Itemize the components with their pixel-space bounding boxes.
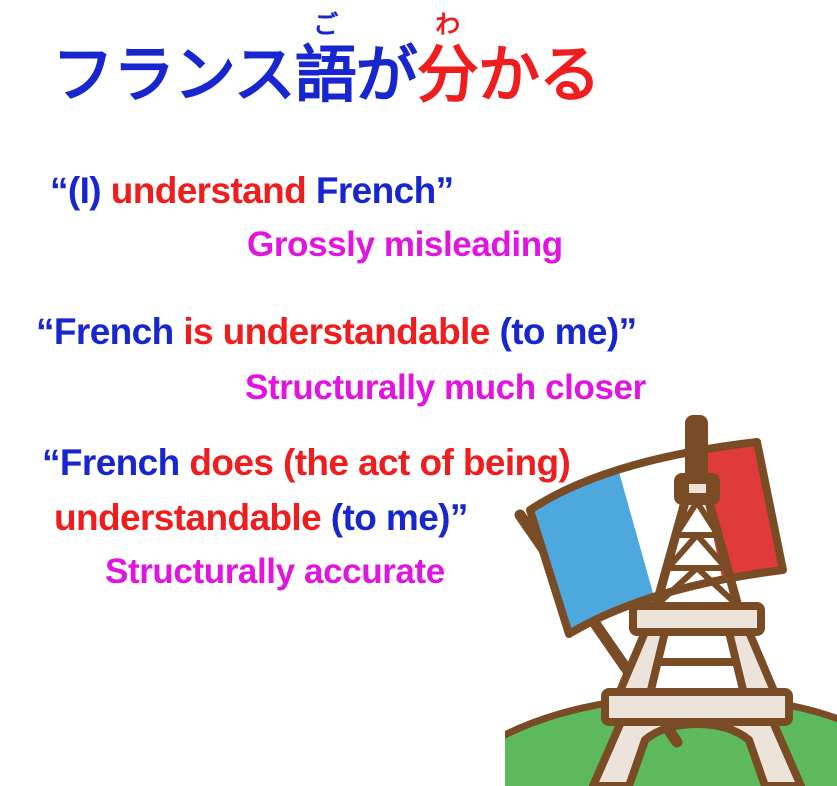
page-title: フランスご語がわ分かる bbox=[52, 44, 600, 106]
title-segment-wakaru-kanji: 分 bbox=[417, 38, 478, 111]
eiffel-top-box-window bbox=[689, 484, 706, 493]
translation-2-part-subject: “French bbox=[36, 311, 183, 352]
translation-1-part-verb: understand bbox=[111, 170, 316, 211]
translation-line-2: “French is understandable (to me)” bbox=[36, 313, 637, 350]
translation-line-3: “French does (the act of being) bbox=[42, 444, 570, 481]
eiffel-first-platform bbox=[605, 692, 789, 722]
translation-3-part-subject: “French bbox=[42, 442, 189, 483]
translation-line-3-continued: understandable (to me)” bbox=[54, 499, 468, 536]
slide-canvas: フランスご語がわ分かる “(I) understand French” Gros… bbox=[0, 0, 837, 786]
title-segment-ga: が bbox=[356, 38, 417, 111]
title-segment-karu: かる bbox=[478, 38, 600, 111]
furigana-wa: わ bbox=[435, 12, 459, 37]
title-segment-go-with-ruby: ご語 bbox=[295, 44, 356, 106]
translation-1-part-subject: “(I) bbox=[50, 170, 111, 211]
translation-line-1: “(I) understand French” bbox=[50, 172, 454, 209]
evaluation-note-2: Structurally much closer bbox=[245, 370, 646, 405]
title-segment-go: 語 bbox=[295, 38, 356, 111]
france-illustration bbox=[505, 410, 837, 786]
furigana-go: ご bbox=[313, 12, 337, 37]
evaluation-note-1: Grossly misleading bbox=[247, 227, 563, 262]
title-japanese-sentence: フランスご語がわ分かる bbox=[52, 44, 600, 106]
eiffel-antenna-icon bbox=[688, 418, 705, 480]
translation-3-part-experiencer: (to me)” bbox=[331, 497, 468, 538]
translation-3-part-complement: understandable bbox=[54, 497, 331, 538]
evaluation-note-3: Structurally accurate bbox=[105, 554, 445, 589]
title-segment-wa-with-ruby: わ分 bbox=[417, 44, 478, 106]
translation-2-part-predicate: is understandable bbox=[183, 311, 499, 352]
title-segment-furansu: フランス bbox=[52, 38, 295, 111]
translation-2-part-experiencer: (to me)” bbox=[499, 311, 636, 352]
translation-1-part-object: French” bbox=[316, 170, 454, 211]
